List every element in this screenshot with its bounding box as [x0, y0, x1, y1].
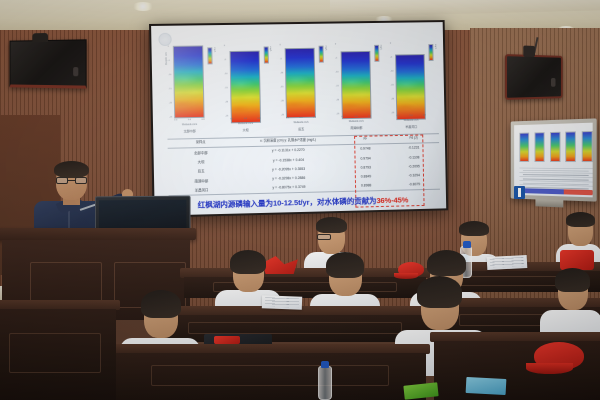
y-tick-labels: 0 -5 -10 -15 -20 -25 — [168, 46, 172, 119]
x-axis-label: Wetlands cm/s — [223, 123, 267, 126]
desk-inset — [151, 365, 388, 386]
y-tick: -10 — [335, 71, 338, 73]
x-tick: 0.0 — [230, 118, 233, 120]
heatmap-image — [229, 51, 261, 124]
speaker-port-icon — [73, 67, 78, 76]
y-tick: -25 — [169, 116, 172, 118]
person-hair — [316, 217, 347, 233]
person-hair — [326, 252, 364, 278]
x-tick: 0.4 — [188, 119, 191, 121]
heatmap-panel: 0 -5 -10 -15 -20 -25 mg/L 0.0 0.4 0.8 — [222, 40, 274, 133]
lectern-top — [0, 228, 196, 240]
y-tick: -5 — [224, 59, 227, 61]
speaker-port-icon — [551, 78, 556, 87]
red-cap — [398, 262, 424, 277]
y-tick: -5 — [390, 57, 393, 59]
y-tick: -15 — [169, 88, 172, 90]
y-tick: -5 — [168, 60, 171, 62]
x-tick-labels: 0.0 0.4 0.8 — [174, 119, 204, 122]
monitor-table-text — [523, 169, 589, 190]
desk-inset — [9, 333, 102, 373]
glasses-lens-left — [56, 177, 68, 184]
paper-sheet — [487, 255, 528, 270]
y-tick: -10 — [224, 73, 227, 75]
lecture-room-scene: Depth cm 0 -5 -10 -15 -20 -25 mg/L 0.0 — [0, 0, 600, 400]
colorbar-label: mg/L — [269, 46, 271, 51]
paper-sheet — [262, 295, 302, 309]
y-tick: -25 — [336, 113, 339, 115]
glasses-bridge — [68, 180, 75, 181]
heatmap-panel-row: Depth cm 0 -5 -10 -15 -20 -25 mg/L 0.0 — [166, 38, 439, 135]
x-tick: 0.0 — [286, 117, 289, 119]
heatmap-panel: Depth cm 0 -5 -10 -15 -20 -25 mg/L 0.0 — [166, 41, 218, 134]
water-bottle — [318, 366, 332, 400]
x-tick: 0.0 — [396, 115, 399, 117]
person-hair — [417, 276, 462, 308]
y-tick: -10 — [280, 72, 283, 74]
wall-speaker-left — [10, 39, 87, 88]
cell-site: 羊昌河口 — [168, 184, 234, 195]
monitor-heatmap — [565, 131, 576, 162]
wall-sign-icon — [514, 186, 525, 199]
colorbar — [263, 46, 268, 63]
x-tick: 0.8 — [257, 118, 260, 120]
cell-r2: 0.8988 — [343, 181, 389, 191]
y-tick: -20 — [281, 100, 284, 102]
y-tick: -20 — [336, 99, 339, 101]
monitor-heatmap-row — [519, 131, 592, 164]
x-axis-label: Wetlands cm/s — [389, 119, 432, 122]
y-tick: -25 — [225, 115, 228, 117]
slide-headline: 红枫湖内源磷输入量为10-12.5t/yr，对水体磷的贡献为36%-45% — [165, 196, 441, 211]
desk-inset — [188, 322, 402, 334]
red-cloth — [560, 250, 594, 270]
y-tick: -25 — [391, 112, 394, 114]
y-tick: -15 — [225, 87, 228, 89]
cell-flux: -0.8079 — [389, 179, 440, 189]
colorbar — [374, 45, 379, 62]
colorbar-label: mg/L — [325, 46, 327, 51]
bottle-cap-icon — [321, 361, 329, 368]
x-tick: 0.8 — [423, 115, 426, 117]
heatmap-panel: 0 -5 -10 -15 -20 -25 mg/L 0.0 0.4 0.8 — [333, 39, 384, 132]
y-tick: 0 — [390, 43, 393, 45]
colorbar-label: mg/L — [434, 44, 436, 49]
x-tick: 0.4 — [410, 115, 413, 117]
heatmap-panel: 0 -5 -10 -15 -20 -25 mg/L 0.0 0.4 0.8 — [278, 40, 330, 133]
heatmap-image — [395, 54, 426, 120]
colorbar — [319, 46, 324, 63]
x-tick: 0.4 — [244, 118, 247, 120]
speaker-mount-icon — [523, 45, 535, 57]
x-axis-label: Wetlands cm/s — [167, 124, 212, 127]
x-tick: 0.4 — [299, 117, 302, 119]
y-tick: -20 — [169, 102, 172, 104]
regression-table: 采样点 x: 沉积深度 (cm) y: 孔隙水P浓度 (mg/L) R² Fd … — [167, 133, 439, 196]
y-tick: -10 — [168, 74, 171, 76]
heatmap-image — [340, 51, 371, 119]
y-tick: -25 — [281, 114, 284, 116]
heatmap-image — [285, 48, 316, 118]
wall-speaker-right — [505, 54, 563, 100]
y-tick-labels: 0 -5 -10 -15 -20 -25 — [390, 43, 394, 115]
person-hair — [141, 290, 181, 318]
desk-front — [0, 309, 116, 400]
colorbar-label: mg/L — [213, 47, 215, 52]
headline-text: 红枫湖内源磷输入量为10-12.5t/yr，对水体磷的贡献为 — [198, 196, 377, 209]
y-tick: 0 — [335, 43, 338, 45]
monitor-heatmap — [550, 132, 560, 162]
person-hair — [566, 212, 595, 227]
x-tick: 0.8 — [313, 117, 316, 119]
presentation-slide: Depth cm 0 -5 -10 -15 -20 -25 mg/L 0.0 — [151, 22, 446, 216]
y-tick: -5 — [280, 58, 283, 60]
y-tick-labels: 0 -5 -10 -15 -20 -25 — [280, 44, 284, 116]
panel-site-label: 南湖中部 — [335, 125, 379, 130]
y-tick: -15 — [280, 86, 283, 88]
x-tick: 0.8 — [368, 116, 371, 118]
panel-site-label: 羊昌河口 — [390, 124, 433, 129]
monitor-heatmap — [534, 132, 544, 162]
ceiling-light-icon — [132, 2, 154, 11]
y-tick-labels: 0 -5 -10 -15 -20 -25 — [335, 43, 339, 115]
speaker-cabinet — [10, 39, 87, 88]
x-tick-labels: 0.0 0.4 0.8 — [286, 117, 316, 120]
desk-front — [114, 353, 426, 400]
monitor-headline — [519, 188, 592, 195]
red-cap — [534, 342, 584, 370]
x-tick: 0.8 — [201, 119, 204, 121]
monitor-heatmap — [582, 131, 593, 162]
panel-site-label: 后五 — [279, 127, 323, 132]
x-tick: 0.0 — [174, 119, 177, 121]
monitor-screen — [514, 123, 593, 198]
y-tick: 0 — [224, 45, 227, 47]
glasses-icon — [56, 177, 87, 184]
x-tick: 0.0 — [341, 116, 344, 118]
x-axis-label: Wetlands cm/s — [334, 120, 378, 123]
panel-site-label: 北部中部 — [167, 129, 212, 134]
speaker-mount-icon — [32, 33, 48, 42]
y-tick: 0 — [168, 46, 171, 48]
ceiling-soffit — [330, 0, 600, 17]
y-tick: -20 — [391, 98, 394, 100]
headline-percent: 36%-45% — [376, 195, 408, 205]
monitor-stand — [535, 199, 563, 207]
red-item — [214, 336, 240, 344]
y-tick: -10 — [390, 70, 393, 72]
foreground-desk — [110, 344, 430, 400]
y-tick: -5 — [335, 57, 338, 59]
x-axis-label: Wetlands cm/s — [279, 122, 323, 125]
heatmap-image — [173, 45, 205, 118]
glasses-icon — [317, 234, 331, 240]
laptop-screen-glow — [108, 207, 151, 213]
person-hair — [459, 221, 489, 236]
speaker-cabinet — [505, 54, 563, 100]
panel-site-label: 大坝 — [223, 128, 267, 133]
person-hair — [230, 250, 266, 274]
x-tick: 0.4 — [355, 116, 358, 118]
heatmap-panel: 0 -5 -10 -15 -20 -25 mg/L 0.0 0.4 0.8 — [388, 38, 439, 130]
colorbar — [428, 44, 433, 61]
y-tick: 0 — [280, 44, 283, 46]
person-hair — [427, 250, 466, 276]
bottle-cap-icon — [463, 241, 471, 248]
y-tick: -15 — [336, 85, 339, 87]
y-tick: -15 — [391, 84, 394, 86]
cell-equation: y = -0.8075x + 0.3749 — [234, 182, 343, 194]
y-tick-labels: 0 -5 -10 -15 -20 -25 — [224, 45, 228, 117]
foreground-desk-left — [0, 300, 120, 400]
colorbar-label: mg/L — [380, 45, 382, 50]
person-hair — [555, 268, 590, 292]
colorbar — [207, 47, 212, 64]
projection-screen: Depth cm 0 -5 -10 -15 -20 -25 mg/L 0.0 — [149, 20, 448, 218]
presenter-hair — [54, 161, 89, 178]
glasses-lens-right — [75, 177, 87, 184]
y-tick: -20 — [225, 101, 228, 103]
blue-item — [466, 377, 507, 395]
monitor-heatmap — [519, 133, 529, 162]
